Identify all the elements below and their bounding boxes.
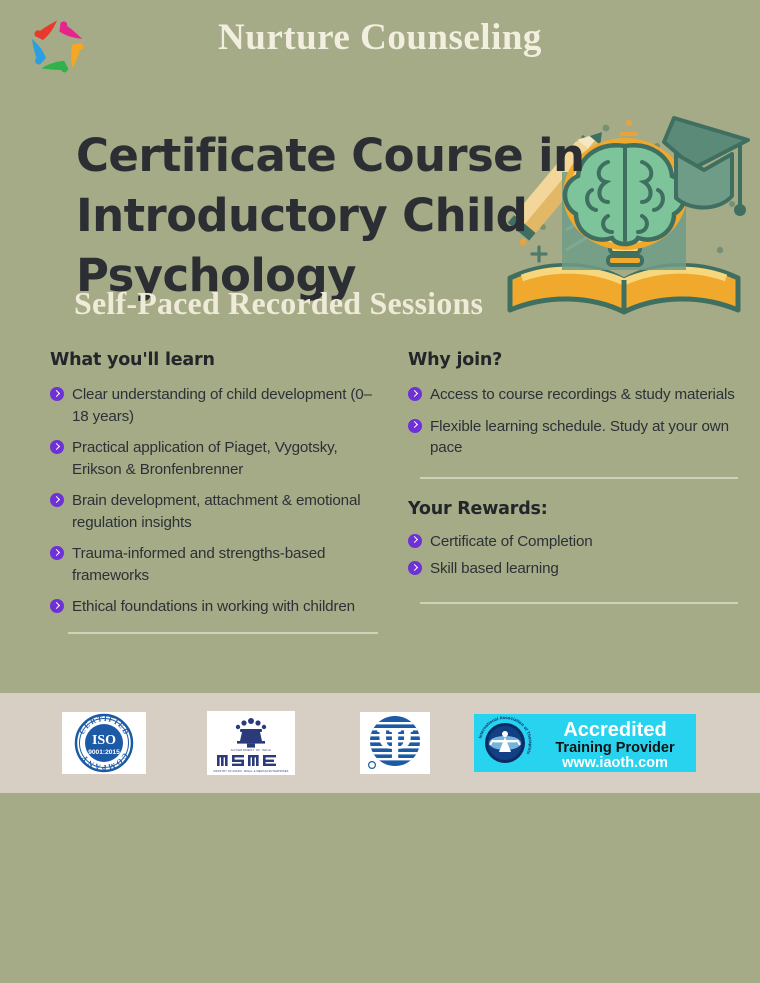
chevron-right-icon [408, 561, 422, 575]
list-item: Brain development, attachment & emotiona… [50, 490, 385, 533]
list-item-text: Trauma-informed and strengths-based fram… [72, 545, 325, 584]
chevron-right-icon [50, 493, 64, 507]
list-item-text: Clear understanding of child development… [72, 386, 372, 425]
your-rewards-list: Certificate of Completion Skill based le… [408, 531, 738, 580]
list-item-text: Access to course recordings & study mate… [430, 386, 735, 403]
svg-text:ISO: ISO [92, 733, 116, 748]
chevron-right-icon [50, 599, 64, 613]
page-header: Nurture Counseling [0, 0, 760, 88]
iaoth-accredited-training-provider-badge: International Association of Therapists … [474, 714, 696, 772]
msme-government-of-india-badge: GOVERNMENT OF INDIA MINISTRY OF MICRO, S… [207, 711, 295, 775]
page-title: Certificate Course in Introductory Child… [76, 126, 596, 306]
list-item-text: Certificate of Completion [430, 533, 593, 550]
column-what-youll-learn: What you'll learn Clear understanding of… [50, 350, 385, 634]
column-why-join: Why join? Access to course recordings & … [408, 350, 738, 604]
psychology-association-badge: Ψ Ψ [360, 712, 430, 774]
svg-text:GOVERNMENT OF INDIA: GOVERNMENT OF INDIA [231, 748, 272, 752]
brand-title: Nurture Counseling [0, 16, 760, 59]
what-youll-learn-list: Clear understanding of child development… [50, 384, 385, 618]
hero-section: Certificate Course in Introductory Child… [0, 88, 760, 350]
accreditation-footer-band: CERTIFIED COMPANY ISO 9001:2015 ISO [0, 693, 760, 793]
svg-text:Training Provider: Training Provider [555, 740, 675, 756]
chevron-right-icon [50, 387, 64, 401]
list-item-text: Practical application of Piaget, Vygotsk… [72, 439, 338, 478]
svg-text:Accredited: Accredited [563, 719, 666, 741]
list-item: Flexible learning schedule. Study at you… [408, 416, 738, 459]
divider [420, 477, 738, 479]
chevron-right-icon [50, 440, 64, 454]
section-heading-your-rewards: Your Rewards: [408, 499, 738, 519]
list-item: Trauma-informed and strengths-based fram… [50, 543, 385, 586]
divider [420, 602, 738, 604]
page-subtitle: Self-Paced Recorded Sessions [74, 285, 483, 322]
list-item-text: Skill based learning [430, 560, 559, 577]
list-item: Practical application of Piaget, Vygotsk… [50, 437, 385, 480]
iso-certification-badge: CERTIFIED COMPANY ISO 9001:2015 ISO [62, 712, 146, 774]
iaoth-badge-text: Accredited [696, 714, 697, 715]
list-item-text: Flexible learning schedule. Study at you… [430, 418, 729, 457]
page-title-line-1: Certificate Course in [76, 129, 584, 182]
section-heading-why-join: Why join? [408, 350, 738, 370]
svg-text:MINISTRY OF MICRO, SMALL & MED: MINISTRY OF MICRO, SMALL & MEDIUM ENTERP… [213, 770, 288, 773]
list-item: Clear understanding of child development… [50, 384, 385, 427]
svg-text:Ψ: Ψ [377, 719, 413, 770]
list-item: Skill based learning [408, 558, 738, 580]
list-item: Access to course recordings & study mate… [408, 384, 738, 406]
content-columns: What you'll learn Clear understanding of… [0, 350, 760, 680]
iso-badge-text: ISO [146, 712, 147, 713]
page-title-line-2: Introductory Child [76, 189, 527, 242]
section-heading-what-youll-learn: What you'll learn [50, 350, 385, 370]
list-item-text: Ethical foundations in working with chil… [72, 598, 355, 615]
chevron-right-icon [408, 534, 422, 548]
badge-row: CERTIFIED COMPANY ISO 9001:2015 ISO [0, 693, 760, 793]
chevron-right-icon [50, 546, 64, 560]
divider [68, 632, 378, 634]
why-join-list: Access to course recordings & study mate… [408, 384, 738, 459]
list-item-text: Brain development, attachment & emotiona… [72, 492, 361, 531]
list-item: Certificate of Completion [408, 531, 738, 553]
chevron-right-icon [408, 419, 422, 433]
msme-badge-text: MSME [295, 711, 296, 712]
list-item: Ethical foundations in working with chil… [50, 596, 385, 618]
svg-text:9001:2015: 9001:2015 [88, 749, 120, 756]
psi-symbol: Ψ [430, 712, 431, 713]
chevron-right-icon [408, 387, 422, 401]
svg-text:www.iaoth.com: www.iaoth.com [561, 755, 668, 771]
